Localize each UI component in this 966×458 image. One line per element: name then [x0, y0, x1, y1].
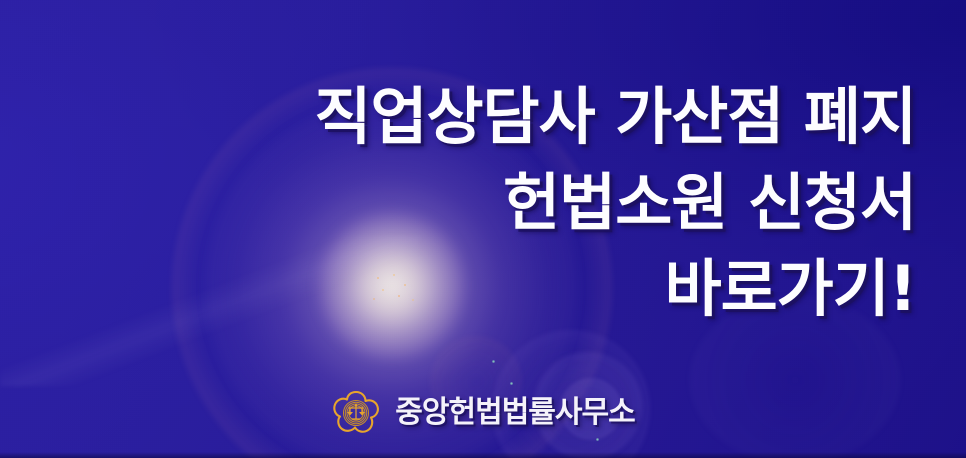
bottom-edge-band — [0, 452, 966, 458]
brand-lockup[interactable]: 중앙헌법법률사무소 — [0, 388, 966, 438]
scales-of-justice-flower-emblem-icon — [331, 388, 381, 438]
headline-line-3: 바로가기! — [40, 246, 916, 332]
headline-line-1: 직업상담사 가산점 폐지 — [40, 74, 916, 160]
headline: 직업상담사 가산점 폐지 헌법소원 신청서 바로가기! — [40, 74, 916, 332]
headline-line-2: 헌법소원 신청서 — [40, 160, 916, 246]
promo-banner[interactable]: 직업상담사 가산점 폐지 헌법소원 신청서 바로가기! — [0, 0, 966, 458]
brand-name: 중앙헌법법률사무소 — [395, 398, 634, 428]
